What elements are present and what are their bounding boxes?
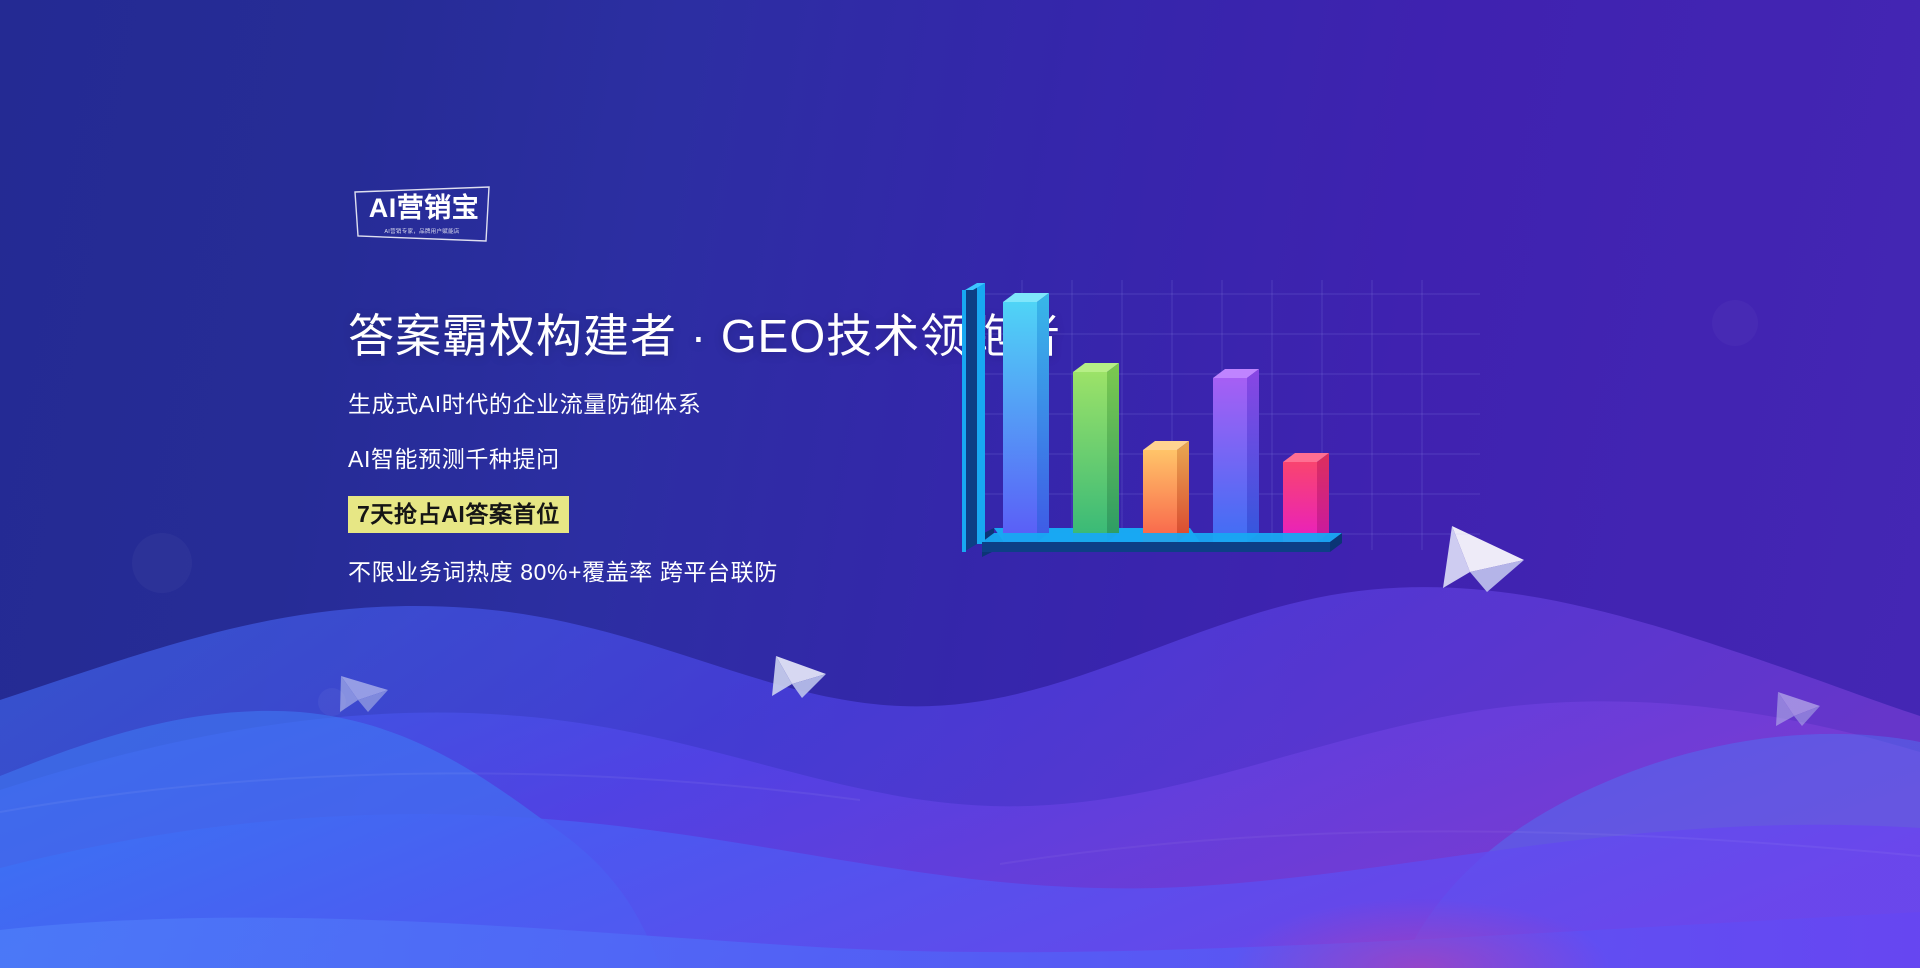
highlight-badge: 7天抢占AI答案首位: [348, 496, 569, 533]
bar-chart-illustration: [960, 280, 1480, 680]
logo-wordmark: AI营销宝: [360, 192, 488, 224]
chart-y-axis: [962, 283, 985, 552]
brand-logo[interactable]: AI营销宝 AI营销专家，品牌用户赋能店: [352, 186, 492, 246]
bar-5: [1283, 453, 1329, 542]
bar-2: [1073, 363, 1119, 542]
bar-4: [1213, 369, 1259, 542]
bar-chart-svg: [960, 280, 1480, 680]
hero-banner: AI营销宝 AI营销专家，品牌用户赋能店 答案霸权构建者 · GEO技术领跑者 …: [0, 0, 1920, 968]
bar-3: [1143, 441, 1189, 542]
chart-floor-rail: [982, 533, 1342, 552]
logo-tagline: AI营销专家，品牌用户赋能店: [363, 226, 481, 234]
bar-1: [1003, 293, 1049, 542]
chart-bars: [1003, 293, 1329, 542]
